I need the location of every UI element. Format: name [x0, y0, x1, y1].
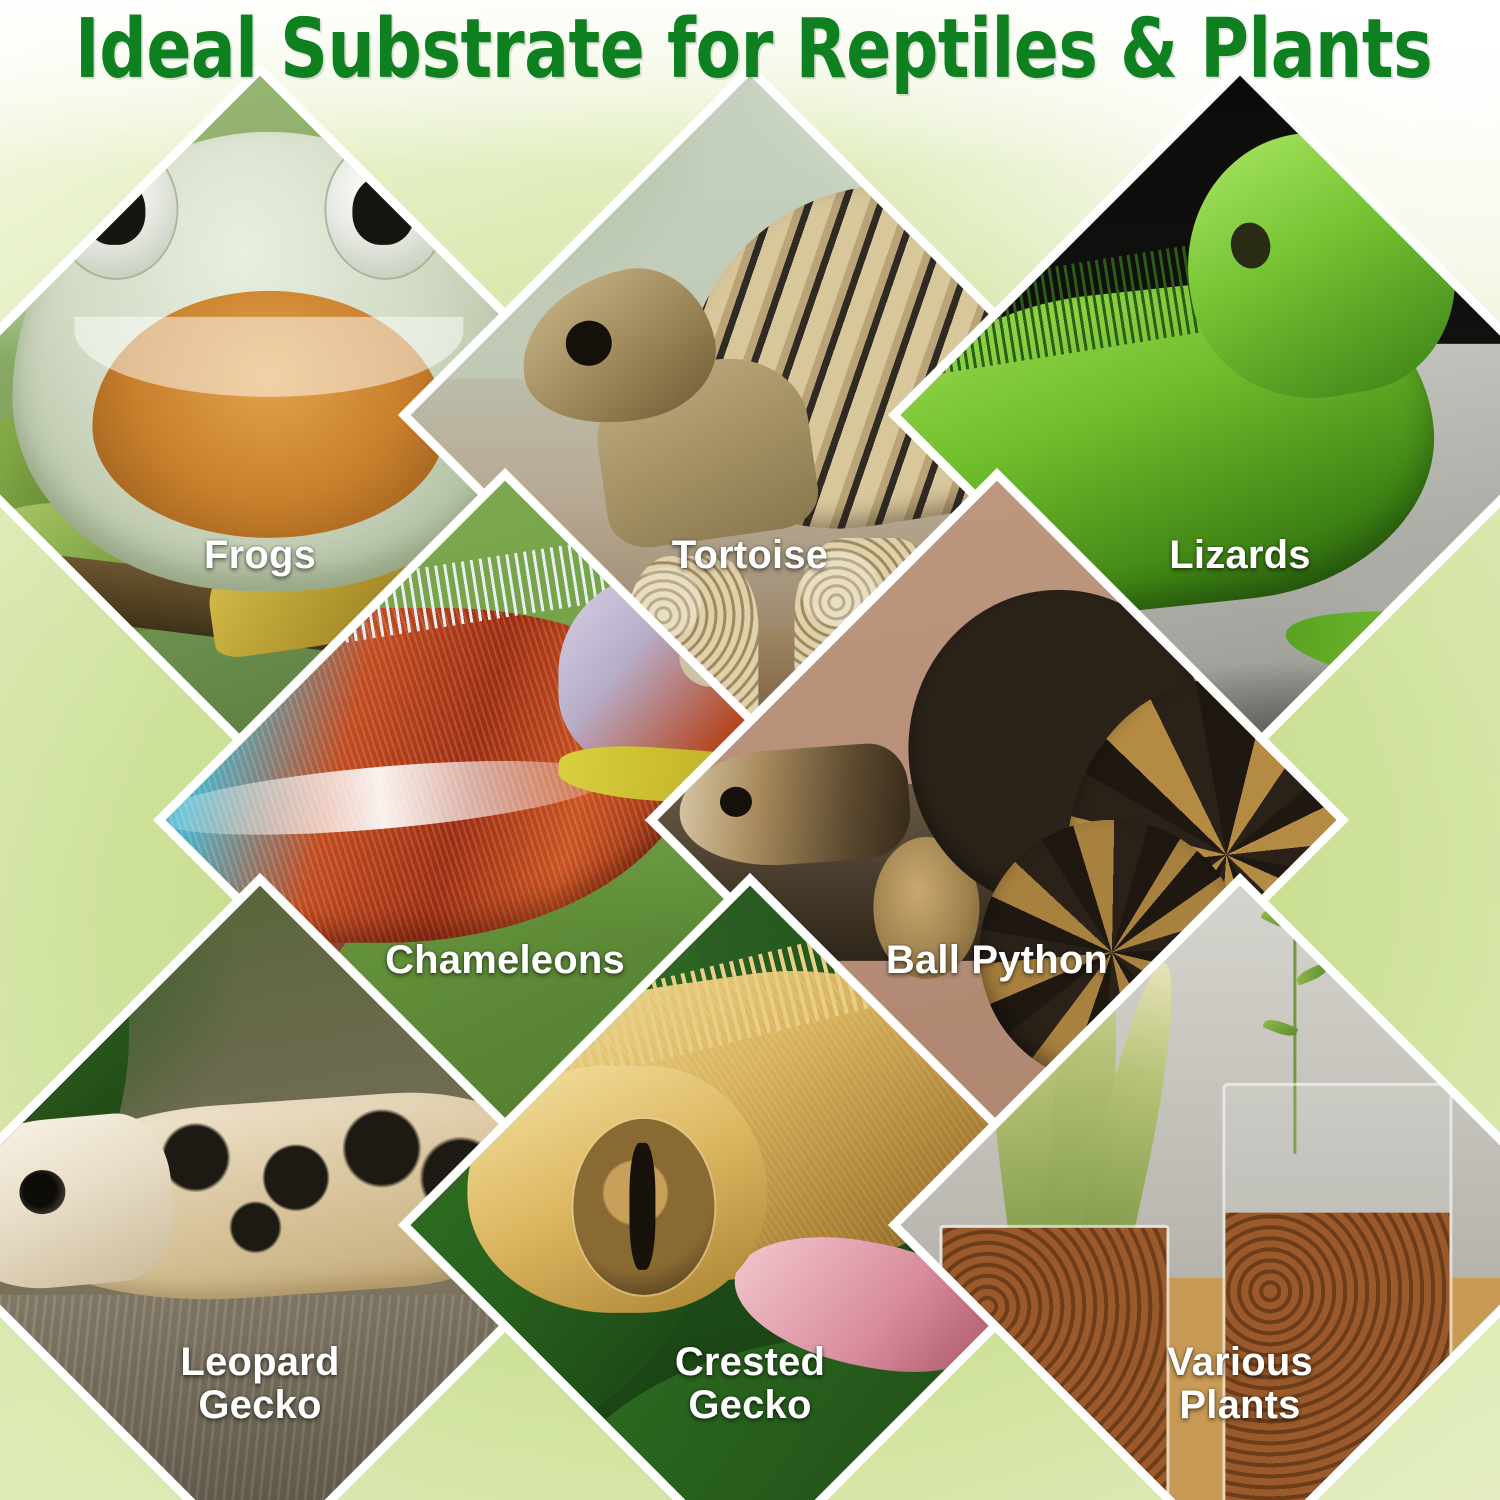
page-title: Ideal Substrate for Reptiles & Plants: [75, 8, 1425, 92]
tile-various-plants[interactable]: Various Plants: [1000, 985, 1480, 1465]
infographic-page: Ideal Substrate for Reptiles & Plants Fr…: [0, 0, 1500, 1500]
